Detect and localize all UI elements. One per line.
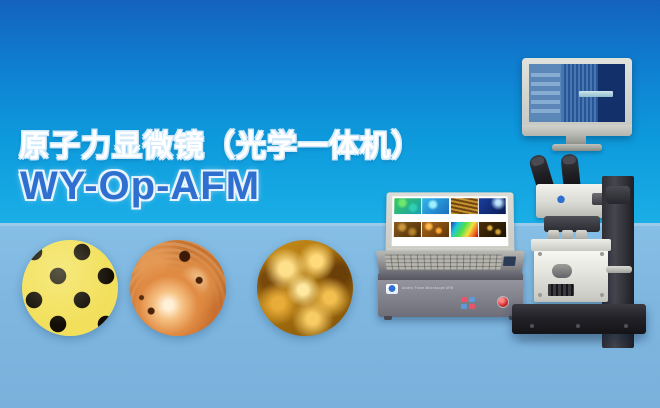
model-name: WY-Op-AFM [20,164,260,209]
afm-scanner-head [534,246,608,302]
brand-logo-icon [386,284,398,294]
scan-thumbnail [394,222,421,244]
microscope-head [536,184,608,218]
controller-button [469,304,475,309]
scan-thumbnail [422,198,449,220]
scanner-screw [538,293,542,297]
scanner-screw [538,252,542,256]
scan-thumbnail [451,198,478,220]
optical-afm-microscope [498,58,660,348]
microscope-monitor [522,58,632,136]
laptop-screen [392,196,509,246]
nanoparticle-scan [257,240,353,336]
controller-button [461,304,467,309]
spiral-growth-scan [130,240,226,336]
focus-knob [606,186,630,204]
keyboard-keys [385,255,502,270]
scanner-screw [600,293,604,297]
screen-bars [531,71,560,113]
afm-sample-image-2 [130,240,226,336]
scanner-screw [600,252,604,256]
controller-button [461,297,467,302]
afm-sample-image-3 [257,240,353,336]
monitor-screen [529,64,625,122]
product-banner: 原子力显微镜（光学一体机） WY-Op-AFM AFM [0,0,660,408]
base-foot [576,324,580,328]
granite-base [512,304,646,334]
scanner-top-cover [531,239,611,251]
laptop-lid: AFM [385,192,514,257]
page-title: 原子力显微镜（光学一体机） [19,121,422,165]
scan-thumbnail [451,222,478,244]
controller-foot [384,316,392,320]
sample-stage [548,284,574,296]
porous-membrane-scan [22,240,118,336]
base-foot [530,324,534,328]
monitor-base [552,144,602,151]
controller-label: Atomic Force Microscope AFM [402,286,454,290]
cantilever-icon [579,91,613,97]
scan-thumbnail [422,222,449,244]
controller-button-grid [461,297,475,309]
scanner-dial [552,264,572,278]
base-foot [624,324,628,328]
floor-reflection [518,334,640,348]
brand-logo-icon [554,194,568,206]
controller-button [469,297,475,302]
scanner-side-rod [606,266,632,273]
scan-thumbnail [394,198,421,220]
afm-sample-image-1 [22,240,118,336]
